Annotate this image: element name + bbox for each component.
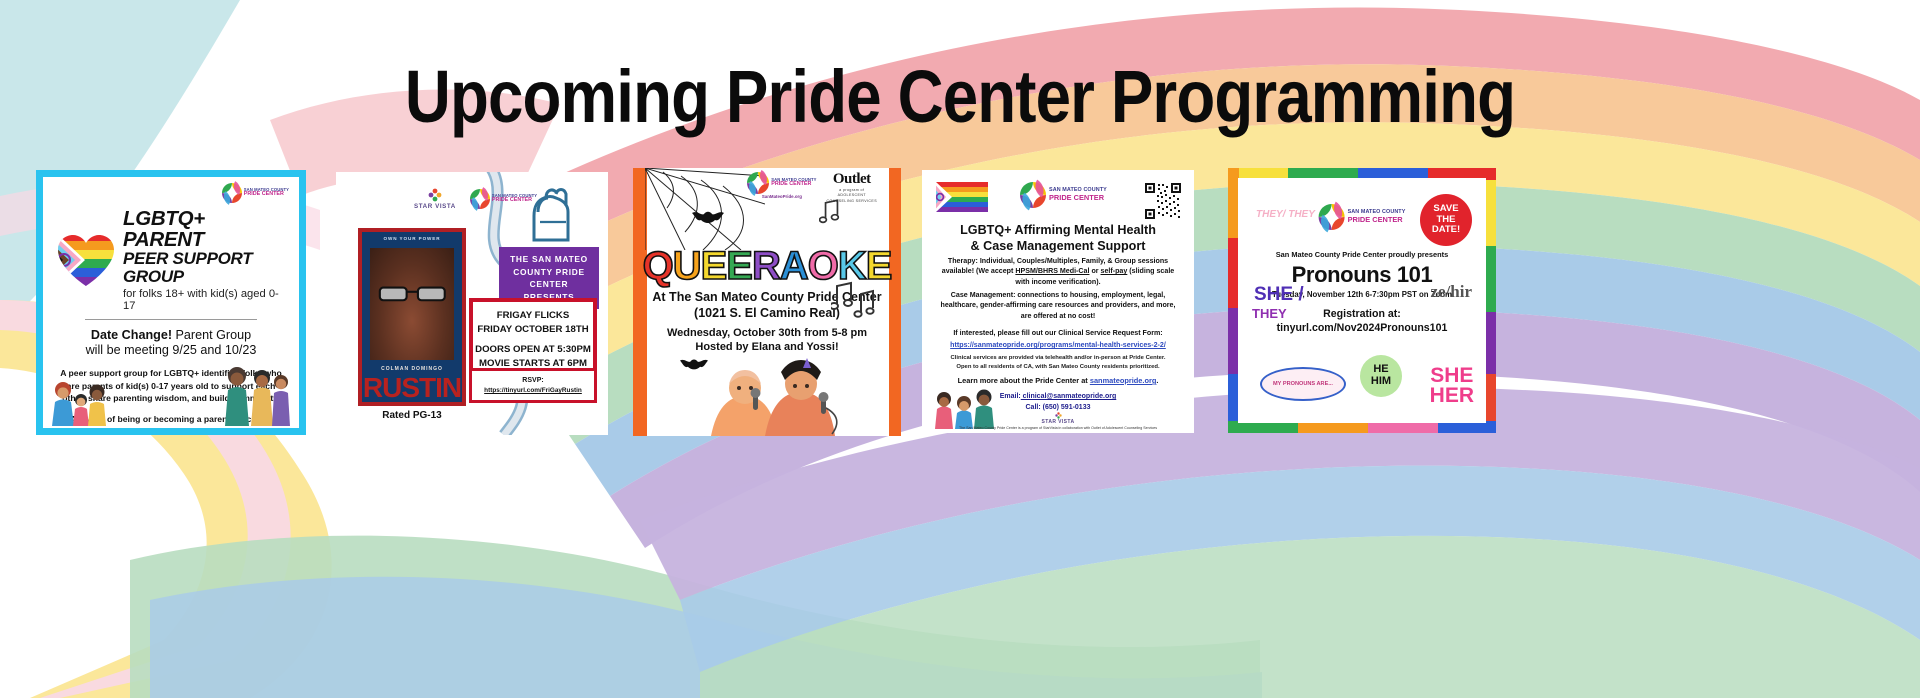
queeraoke-when-line1: Wednesday, October 30th from 5-8 pm (633, 326, 901, 340)
event-line1: FRIGAY FLICKS (475, 309, 591, 323)
starvista-mark-icon (1055, 412, 1062, 419)
save-the-date-badge: SAVE THE DATE! (1420, 194, 1472, 246)
presents-line: San Mateo County Pride Center proudly pr… (1238, 250, 1486, 259)
rsvp-label: RSVP: (474, 376, 592, 386)
pride-center-url: SanMateoPride.org (762, 194, 802, 199)
flyer-pronouns-101[interactable]: SAN MATEO COUNTY PRIDE CENTER SAVE THE D… (1228, 168, 1496, 433)
pinwheel-icon (1319, 204, 1345, 230)
flyer1-date-bold: Date Change! (91, 328, 172, 342)
bubble-him: HIM (1371, 376, 1391, 388)
queeraoke-datetime: Wednesday, October 30th from 5-8 pm Host… (633, 326, 901, 355)
flyer-frigay-flicks-rustin[interactable]: STAR VISTA SAN MATEO COUNTY PRIDE CENTER (336, 172, 608, 435)
email-value[interactable]: clinical@sanmateopride.org (1021, 393, 1117, 400)
bat-icon-1 (691, 210, 725, 226)
registration-link[interactable]: tinyurl.com/Nov2024Pronouns101 (1238, 322, 1486, 336)
bubble-he-him: HE HIM (1360, 355, 1402, 397)
pride-center-logo: SAN MATEO COUNTY PRIDE CENTER (222, 183, 289, 203)
flyer4-title-line1: LGBTQ+ Affirming Mental Health (922, 222, 1194, 238)
bubble-she-her: SHE HER (1430, 366, 1474, 405)
music-notes-icon (831, 278, 877, 318)
progress-pride-flag-icon (936, 182, 988, 212)
logo-line-2: PRIDE CENTER (244, 192, 289, 198)
therapy-mid: or (1089, 267, 1100, 275)
therapy-label: Therapy: (948, 257, 978, 265)
starvista-mark-icon (428, 188, 442, 202)
starvista-logo: STAR VISTA (414, 188, 456, 210)
learn-more-line: Learn more about the Pride Center at san… (922, 376, 1194, 385)
rating-label: Rated PG-13 (358, 410, 466, 421)
logo-line-2: PRIDE CENTER (1348, 216, 1406, 224)
small-line1: Clinical services are provided via teleh… (938, 354, 1178, 363)
pinwheel-icon (470, 189, 490, 209)
glasses-icon (377, 282, 448, 304)
logo-line-2: PRIDE CENTER (1049, 194, 1107, 202)
bubble-they-them: THEY/ THEY (1256, 210, 1315, 221)
rsvp-box[interactable]: RSVP: https://tinyurl.com/FriGayRustin (469, 368, 597, 403)
flyer1-title-line1: LGBTQ+ PARENT (123, 209, 291, 250)
starvista-label: STAR VISTA (414, 203, 456, 210)
pride-center-logo: SAN MATEO COUNTY PRIDE CENTER (1020, 182, 1107, 208)
pride-center-logo: SAN MATEO COUNTY PRIDE CENTER SanMateoPr… (747, 172, 816, 199)
flyer-queeraoke[interactable]: SAN MATEO COUNTY PRIDE CENTER SanMateoPr… (633, 168, 901, 436)
singers-illustration (695, 358, 855, 436)
flyer-lgbtq-parent-peer-support[interactable]: SAN MATEO COUNTY PRIDE CENTER (36, 170, 306, 435)
form-bold: Clinical Service Request Form: (1058, 329, 1162, 337)
event-line2: FRIDAY OCTOBER 18TH (475, 323, 591, 337)
pinwheel-icon (1020, 182, 1046, 208)
qr-code-icon[interactable] (1144, 182, 1182, 220)
flyer4-footer: STAR VISTA The San Mateo County Pride Ce… (922, 412, 1194, 431)
rustin-movie-poster: OWN YOUR POWER COLMAN DOMINGO RUSTIN (358, 228, 466, 406)
bubble-she-slash: SHE / (1254, 286, 1304, 304)
outlet-sub1: a program of (827, 188, 877, 192)
small-line2: Open to all residents of CA, with San Ma… (938, 363, 1178, 372)
bubble-her: HER (1430, 386, 1474, 405)
poster-title: RUSTIN (362, 375, 462, 400)
queeraoke-when-line2: Hosted by Elana and Yossi! (633, 340, 901, 354)
flyer1-title-line2: PEER SUPPORT GROUP (123, 250, 291, 286)
outlet-name: Outlet (827, 172, 877, 187)
case-management-paragraph: Case Management: connections to housing,… (940, 290, 1176, 321)
logo-line-2: PRIDE CENTER (771, 182, 816, 188)
pinwheel-icon (222, 183, 242, 203)
learn-end: . (1156, 376, 1158, 385)
clinical-service-request-link[interactable]: https://sanmateopride.org/programs/menta… (940, 340, 1176, 350)
pride-heart-icon (55, 232, 117, 288)
bubble-my-pronouns-are: MY PRONOUNS ARE... (1260, 367, 1346, 401)
flyer1-date-block: Date Change! Parent Group will be meetin… (51, 328, 291, 359)
call-value[interactable]: (650) 591-0133 (1041, 404, 1091, 411)
clinical-form-paragraph: If interested, please fill out our Clini… (940, 328, 1176, 351)
poster-photo (370, 248, 454, 360)
raised-fist-icon (522, 182, 580, 244)
presents-line1: THE SAN MATEO (503, 253, 595, 266)
event-line3: DOORS OPEN AT 5:30PM (475, 343, 591, 357)
flyer2-logos: STAR VISTA SAN MATEO COUNTY PRIDE CENTER (414, 188, 537, 210)
pinwheel-icon (747, 172, 769, 194)
footer-note: The San Mateo County Pride Center is a p… (922, 426, 1194, 431)
screenshot-canvas: Upcoming Pride Center Programming SAN MA… (0, 0, 1920, 698)
rsvp-link[interactable]: https://tinyurl.com/FriGayRustin (474, 386, 592, 395)
call-label: Call: (1026, 404, 1041, 411)
badge-line3: DATE! (1432, 225, 1460, 236)
flyer-strip: SAN MATEO COUNTY PRIDE CENTER (0, 150, 1920, 450)
music-notes-icon-2 (819, 196, 861, 230)
flyer1-date-line2: will be meeting 9/25 and 10/23 (51, 343, 291, 358)
flyer4-title-line2: & Case Management Support (922, 238, 1194, 254)
therapy-link-medical[interactable]: HPSM/BHRS Medi-Cal (1015, 267, 1089, 275)
flyer4-heading: LGBTQ+ Affirming Mental Health & Case Ma… (922, 222, 1194, 255)
flyer1-date-rest: Parent Group (172, 328, 251, 342)
therapy-link-selfpay[interactable]: self-pay (1101, 267, 1128, 275)
flyer-mental-health-case-management[interactable]: SAN MATEO COUNTY PRIDE CENTER (922, 170, 1194, 433)
form-text: If interested, please fill out our (953, 329, 1058, 337)
family-illustration-right (215, 360, 295, 426)
flyer1-subtitle: for folks 18+ with kid(s) aged 0-17 (123, 288, 291, 312)
family-illustration-left (49, 376, 111, 426)
badge-line1: SAVE (1432, 204, 1460, 215)
pride-center-logo: SAN MATEO COUNTY PRIDE CENTER (1319, 204, 1406, 230)
case-label: Case Management: (951, 291, 1016, 299)
divider (85, 319, 257, 320)
therapy-paragraph: Therapy: Individual, Couples/Multiples, … (940, 256, 1176, 287)
presents-line2: COUNTY PRIDE (503, 266, 595, 279)
bubble-ze-hir: ze/hir (1430, 282, 1472, 302)
footer-brand: STAR VISTA (922, 419, 1194, 426)
bubble-they: THEY (1252, 306, 1287, 321)
poster-tagline: OWN YOUR POWER (362, 232, 462, 244)
page-title: Upcoming Pride Center Programming (134, 54, 1785, 139)
flyer5-card: SAN MATEO COUNTY PRIDE CENTER SAVE THE D… (1238, 178, 1486, 423)
learn-text: Learn more about the Pride Center at (958, 376, 1090, 385)
sanmateopride-link[interactable]: sanmateopride.org (1090, 376, 1157, 385)
clinical-services-note: Clinical services are provided via teleh… (938, 354, 1178, 371)
bubble-she: SHE (1430, 366, 1474, 385)
